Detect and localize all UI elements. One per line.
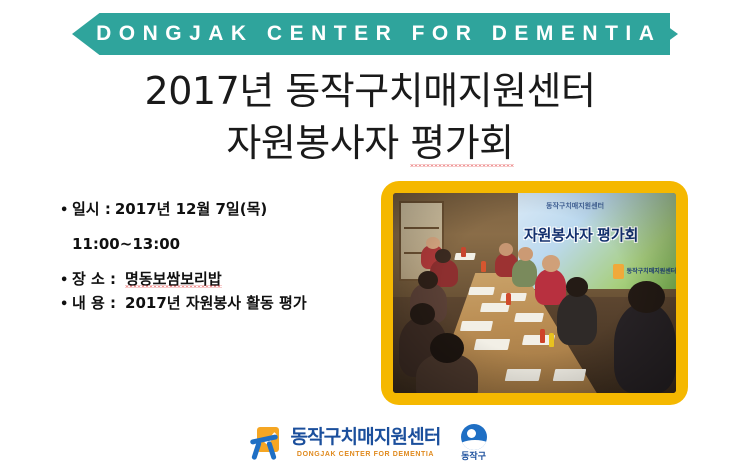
detail-row-content: • 내 용 : 2017년 자원봉사 활동 평가 [60,292,380,313]
detail-value-place: 명동보쌈보리밥 [125,268,222,289]
gu-emblem-label: 동작구 [457,449,491,462]
title-line-2: 자원봉사자 평가회 [0,118,740,168]
bullet-icon: • [60,298,72,311]
event-details-list: • 일시 : 2017년 12월 7일(목) • 11:00~13:00 • 장… [60,198,380,313]
event-photo: 동작구치매지원센터 자원봉사자 평가회 동작구치매지원센터 [393,193,676,393]
figure-arms [250,434,278,445]
title-line-1: 2017년 동작구치매지원센터 [0,66,740,116]
detail-value-date: 2017년 12월 7일(목) [115,198,267,219]
photo-vignette [393,193,676,393]
detail-row-time: • 11:00~13:00 [60,235,380,253]
poster-canvas: DONGJAK CENTER FOR DEMENTIA 2017년 동작구치매지… [0,0,740,469]
detail-label-date: 일시 : [72,198,111,219]
detail-label-place: 장 소 : [72,268,116,289]
photo-frame: 동작구치매지원센터 자원봉사자 평가회 동작구치매지원센터 [381,181,688,405]
detail-value-time: 11:00~13:00 [72,235,180,253]
bullet-icon: • [60,274,72,287]
organization-logo: 동작구치매지원센터 DONGJAK CENTER FOR DEMENTIA 동작… [249,424,490,462]
dongjak-gu-emblem: 동작구 [457,424,491,462]
title-line-2-spellchecked: 평가회 [410,118,513,168]
detail-label-content: 내 용 : [72,292,116,313]
page-title: 2017년 동작구치매지원센터 자원봉사자 평가회 [0,66,740,168]
logo-name-english: DONGJAK CENTER FOR DEMENTIA [290,451,440,458]
logo-name-korean: 동작구치매지원센터 [290,428,440,447]
gu-emblem-dot [467,429,476,438]
detail-value-content: 2017년 자원봉사 활동 평가 [125,292,307,313]
title-line-2-prefix: 자원봉사자 [226,121,410,165]
bullet-icon: • [60,204,72,217]
header-banner: DONGJAK CENTER FOR DEMENTIA [0,13,740,55]
center-logo-icon [249,426,281,460]
detail-row-place: • 장 소 : 명동보쌈보리밥 [60,268,380,289]
person-figure-icon [249,433,279,460]
detail-row-date: • 일시 : 2017년 12월 7일(목) [60,198,380,219]
logo-wordmark: 동작구치매지원센터 DONGJAK CENTER FOR DEMENTIA [290,428,440,458]
banner-title: DONGJAK CENTER FOR DEMENTIA [72,13,678,55]
figure-leg-right [267,441,278,461]
gu-emblem-circle-icon [461,424,487,450]
footer-logo-bar: 동작구치매지원센터 DONGJAK CENTER FOR DEMENTIA 동작… [0,420,740,466]
